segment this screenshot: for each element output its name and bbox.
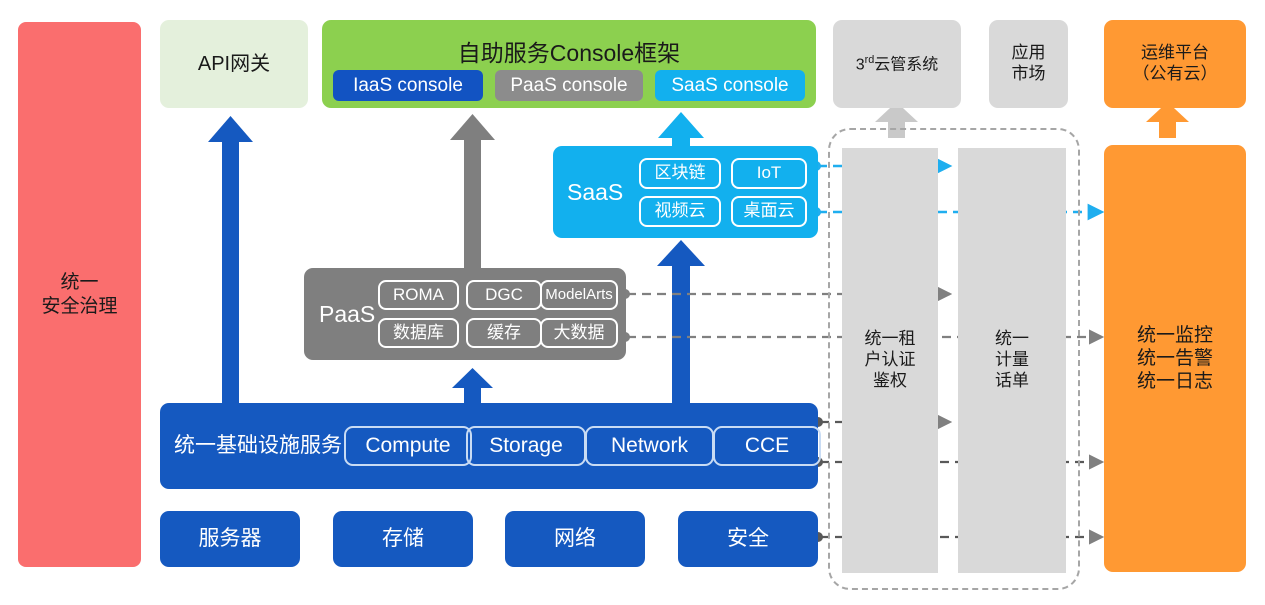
app-market-label: 应用 市场 xyxy=(1012,43,1046,84)
ops-body-line-3: 统一日志 xyxy=(1137,370,1213,393)
pillar-metering-line-2: 计量 xyxy=(995,350,1029,371)
arrow-infra-to-saas xyxy=(657,240,705,407)
chip-paas-console-label: PaaS console xyxy=(510,74,627,97)
saas-item-desktop-cloud-label: 桌面云 xyxy=(744,201,795,222)
saas-panel[interactable]: SaaS 区块链 IoT 视频云 桌面云 xyxy=(553,146,818,238)
ops-platform-header-box[interactable]: 运维平台 （公有云） xyxy=(1104,20,1246,108)
ops-body-line-2: 统一告警 xyxy=(1137,347,1213,370)
infra-item-compute-label: Compute xyxy=(365,433,450,459)
pillar-metering-line-3: 话单 xyxy=(995,371,1029,392)
app-market-box[interactable]: 应用 市场 xyxy=(989,20,1068,108)
paas-item-bigdata[interactable]: 大数据 xyxy=(540,318,618,348)
ops-platform-header-label: 运维平台 （公有云） xyxy=(1133,43,1218,84)
hardware-item-network[interactable]: 网络 xyxy=(505,511,645,567)
chip-paas-console[interactable]: PaaS console xyxy=(495,70,643,101)
ops-body-line-1: 统一监控 xyxy=(1137,324,1213,347)
api-gateway-box[interactable]: API网关 xyxy=(160,20,308,108)
pillar-metering-label: 统一 计量 话单 xyxy=(995,329,1029,391)
paas-item-roma-label: ROMA xyxy=(393,285,444,306)
paas-panel[interactable]: PaaS ROMA DGC ModelArts 数据库 缓存 大数据 xyxy=(304,268,626,360)
arrow-infra-to-paas xyxy=(452,368,493,407)
hardware-item-security-label: 安全 xyxy=(727,526,769,552)
infra-item-cce-label: CCE xyxy=(745,433,789,459)
pillar-unified-tenant-auth[interactable]: 统一租 户认证 鉴权 xyxy=(842,148,938,573)
saas-item-video-cloud-label: 视频云 xyxy=(655,201,706,222)
pillar-auth-line-1: 统一租 xyxy=(865,329,916,350)
architecture-diagram: 统一 安全治理 API网关 自助服务Console框架 IaaS console… xyxy=(0,0,1265,605)
paas-item-cache[interactable]: 缓存 xyxy=(466,318,542,348)
saas-item-iot-label: IoT xyxy=(757,163,782,184)
infrastructure-label: 统一基础设施服务 xyxy=(174,433,342,459)
unified-infrastructure-bar[interactable]: 统一基础设施服务 Compute Storage Network CCE xyxy=(160,403,818,489)
third-party-cloud-mgmt-box[interactable]: 3rd云管系统 xyxy=(833,20,961,108)
hardware-item-server-label: 服务器 xyxy=(199,526,262,552)
hardware-item-storage-label: 存储 xyxy=(382,526,424,552)
paas-item-database[interactable]: 数据库 xyxy=(378,318,459,348)
saas-item-iot[interactable]: IoT xyxy=(731,158,807,189)
paas-item-roma[interactable]: ROMA xyxy=(378,280,459,310)
chip-iaas-console-label: IaaS console xyxy=(353,74,463,97)
chip-saas-console[interactable]: SaaS console xyxy=(655,70,805,101)
third-party-superscript: rd xyxy=(865,54,875,66)
governance-line-2: 安全治理 xyxy=(41,295,117,318)
infra-item-storage[interactable]: Storage xyxy=(466,426,586,466)
ops-platform-body-label: 统一监控 统一告警 统一日志 xyxy=(1137,324,1213,394)
third-party-suffix: 云管系统 xyxy=(874,56,938,73)
chip-saas-console-label: SaaS console xyxy=(671,74,788,97)
pillar-auth-line-3: 鉴权 xyxy=(865,371,916,392)
governance-column[interactable]: 统一 安全治理 xyxy=(18,22,141,567)
hardware-item-network-label: 网络 xyxy=(554,526,596,552)
arrow-infra-to-apigw xyxy=(208,116,253,406)
pillar-auth-line-2: 户认证 xyxy=(865,350,916,371)
governance-line-1: 统一 xyxy=(41,271,117,294)
ops-platform-body-box[interactable]: 统一监控 统一告警 统一日志 xyxy=(1104,145,1246,572)
infra-item-storage-label: Storage xyxy=(489,433,563,459)
paas-item-database-label: 数据库 xyxy=(393,323,444,344)
infra-item-network[interactable]: Network xyxy=(585,426,714,466)
paas-item-modelarts-label: ModelArts xyxy=(545,286,613,304)
console-frame-title: 自助服务Console框架 xyxy=(322,39,816,67)
chip-iaas-console[interactable]: IaaS console xyxy=(333,70,483,101)
hardware-item-security[interactable]: 安全 xyxy=(678,511,818,567)
hardware-item-server[interactable]: 服务器 xyxy=(160,511,300,567)
paas-item-bigdata-label: 大数据 xyxy=(554,323,605,344)
pillar-metering-line-1: 统一 xyxy=(995,329,1029,350)
infra-item-network-label: Network xyxy=(611,433,688,459)
pillar-unified-metering[interactable]: 统一 计量 话单 xyxy=(958,148,1066,573)
saas-panel-label: SaaS xyxy=(567,178,623,206)
ops-platform-header-line-2: （公有云） xyxy=(1133,64,1218,85)
paas-item-dgc-label: DGC xyxy=(485,285,523,306)
paas-item-cache-label: 缓存 xyxy=(487,323,521,344)
app-market-line-1: 应用 xyxy=(1012,43,1046,64)
paas-item-modelarts[interactable]: ModelArts xyxy=(540,280,618,310)
paas-panel-label: PaaS xyxy=(319,300,375,328)
api-gateway-label: API网关 xyxy=(198,52,270,76)
infra-item-compute[interactable]: Compute xyxy=(344,426,472,466)
saas-item-desktop-cloud[interactable]: 桌面云 xyxy=(731,196,807,227)
third-party-prefix: 3 xyxy=(856,56,865,73)
saas-item-blockchain-label: 区块链 xyxy=(655,163,706,184)
hardware-item-storage[interactable]: 存储 xyxy=(333,511,473,567)
ops-platform-header-line-1: 运维平台 xyxy=(1133,43,1218,64)
paas-item-dgc[interactable]: DGC xyxy=(466,280,542,310)
pillar-auth-label: 统一租 户认证 鉴权 xyxy=(865,329,916,391)
governance-label: 统一 安全治理 xyxy=(41,271,117,317)
third-party-cloud-mgmt-label: 3rd云管系统 xyxy=(856,54,939,75)
infra-item-cce[interactable]: CCE xyxy=(713,426,821,466)
saas-item-blockchain[interactable]: 区块链 xyxy=(639,158,721,189)
app-market-line-2: 市场 xyxy=(1012,64,1046,85)
arrow-paas-to-console xyxy=(450,114,495,268)
saas-item-video-cloud[interactable]: 视频云 xyxy=(639,196,721,227)
self-service-console-frame[interactable]: 自助服务Console框架 IaaS console PaaS console … xyxy=(322,20,816,108)
